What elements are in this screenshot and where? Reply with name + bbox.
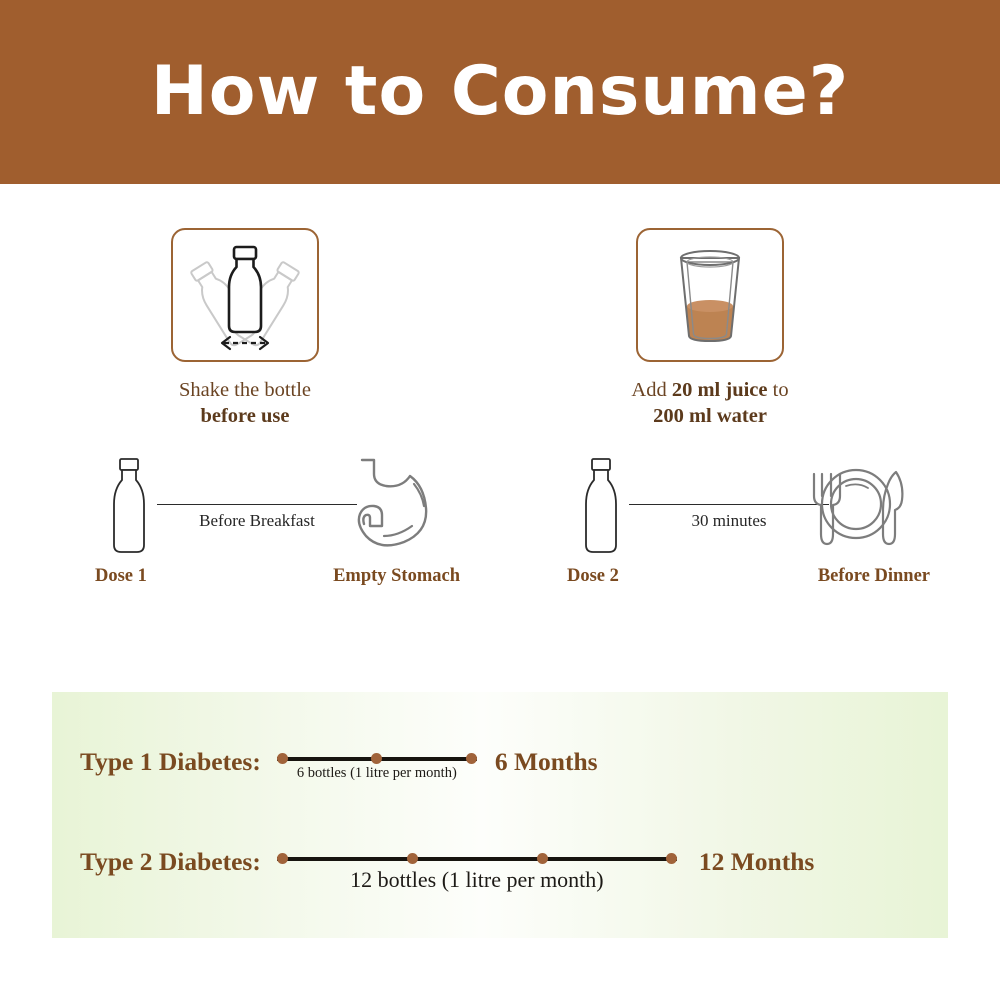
dose-2-end-label: Before Dinner xyxy=(818,566,930,587)
shake-bottle-icon-box xyxy=(171,228,319,362)
dose-row: Before Breakfast Dose 1 Empty Stomach xyxy=(0,452,1000,612)
treatment-row-type2: Type 2 Diabetes: 12 bottles (1 litre per… xyxy=(52,832,948,892)
connector-label: 30 minutes xyxy=(629,511,829,531)
connector-line xyxy=(629,504,829,505)
caption-prefix: Add xyxy=(631,379,671,401)
meter-dot xyxy=(537,853,548,864)
type1-meter-label: 6 bottles (1 litre per month) xyxy=(297,765,457,782)
dose-1-end-label: Empty Stomach xyxy=(333,566,460,587)
shake-bottle-caption: Shake the bottle before use xyxy=(75,378,415,429)
caption-line-2: before use xyxy=(200,405,289,427)
dose-1-icons: Before Breakfast xyxy=(95,452,440,560)
connector-line xyxy=(157,504,357,505)
stomach-icon xyxy=(340,452,440,556)
meter-dot xyxy=(666,853,677,864)
meter-dot xyxy=(407,853,418,864)
meter-dot xyxy=(277,753,288,764)
bottle-icon xyxy=(575,456,627,556)
add-juice-caption: Add 20 ml juice to 200 ml water xyxy=(540,378,880,429)
dose-group-2: 30 minutes xyxy=(567,452,912,612)
dose-2-connector: 30 minutes xyxy=(629,504,829,544)
caption-line-1: Shake the bottle xyxy=(179,379,311,401)
glass-icon-box xyxy=(636,228,784,362)
dose-2-labels: Dose 2 Before Dinner xyxy=(567,566,912,596)
caption-bold-water: 200 ml water xyxy=(653,405,767,427)
dose-1-start-label: Dose 1 xyxy=(95,566,147,587)
dose-group-1: Before Breakfast Dose 1 Empty Stomach xyxy=(95,452,440,612)
page-title: How to Consume? xyxy=(151,58,849,126)
bottle-icon xyxy=(103,456,155,556)
glass-of-juice-icon xyxy=(651,240,769,350)
type2-meter: 12 bottles (1 litre per month) xyxy=(277,835,677,889)
step-shake-bottle: Shake the bottle before use xyxy=(75,228,415,429)
caption-mid: to xyxy=(768,379,789,401)
step-add-juice: Add 20 ml juice to 200 ml water xyxy=(540,228,880,429)
caption-bold-juice: 20 ml juice xyxy=(672,379,768,401)
type1-meter: 6 bottles (1 litre per month) xyxy=(277,735,477,789)
type2-meter-label: 12 bottles (1 litre per month) xyxy=(350,867,604,893)
dose-2-start-label: Dose 2 xyxy=(567,566,619,587)
type2-duration: 12 Months xyxy=(699,847,814,877)
treatment-duration-panel: Type 1 Diabetes: 6 bottles (1 litre per … xyxy=(52,692,948,938)
treatment-row-type1: Type 1 Diabetes: 6 bottles (1 litre per … xyxy=(52,732,948,792)
type1-label: Type 1 Diabetes: xyxy=(80,747,261,777)
type1-duration: 6 Months xyxy=(495,747,598,777)
dose-1-connector: Before Breakfast xyxy=(157,504,357,544)
poster-root: How to Consume? xyxy=(0,0,1000,1000)
shake-bottle-icon xyxy=(182,239,308,351)
meter-dot xyxy=(277,853,288,864)
meter-dot xyxy=(466,753,477,764)
header-banner: How to Consume? xyxy=(0,0,1000,184)
dose-1-labels: Dose 1 Empty Stomach xyxy=(95,566,440,596)
meter-dot xyxy=(371,753,382,764)
type2-meter-bar xyxy=(277,857,677,861)
type2-label: Type 2 Diabetes: xyxy=(80,847,261,877)
dose-2-icons: 30 minutes xyxy=(567,452,912,560)
steps-row: Shake the bottle before use xyxy=(0,228,1000,428)
connector-label: Before Breakfast xyxy=(157,511,357,531)
plate-cutlery-icon xyxy=(800,452,912,556)
